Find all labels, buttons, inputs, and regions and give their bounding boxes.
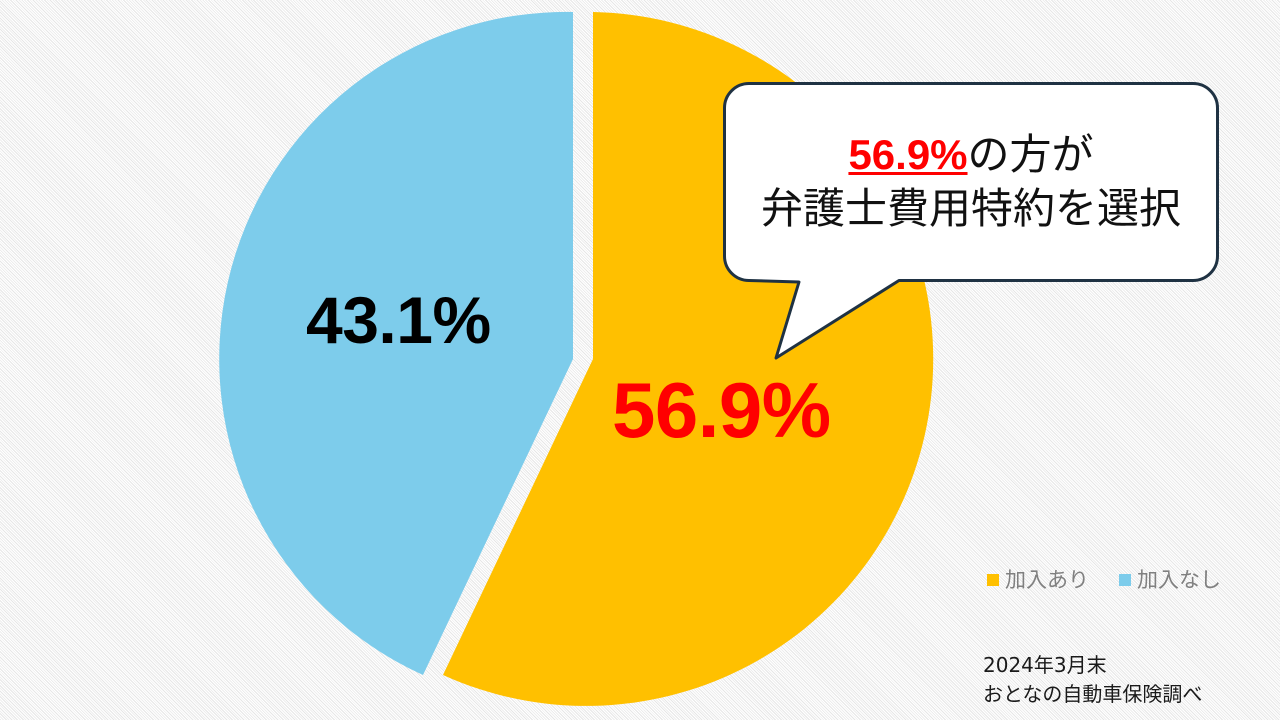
source-note: 2024年3月末 おとなの自動車保険調べ [983, 651, 1202, 709]
callout-line-2: 弁護士費用特約を選択 [761, 182, 1181, 236]
chart-legend: 加入あり 加入なし [944, 534, 1264, 626]
pie-label-kanyu-nashi: 43.1% [306, 287, 491, 353]
callout-bubble: 56.9%の方が 弁護士費用特約を選択 [723, 82, 1219, 282]
legend-swatch-yellow-icon [987, 574, 999, 586]
legend-label-kanyu-nashi: 加入なし [1137, 570, 1221, 591]
legend-label-kanyu-ari: 加入あり [1005, 570, 1089, 591]
legend-swatch-blue-icon [1119, 574, 1131, 586]
chart-slide: 43.1% 56.9% 56.9%の方が 弁護士費用特約を選択 加入あり 加入な… [0, 0, 1280, 720]
legend-item-kanyu-ari[interactable]: 加入あり [987, 570, 1089, 591]
source-note-line-1: 2024年3月末 [983, 651, 1202, 680]
callout-text: 56.9%の方が 弁護士費用特約を選択 [723, 82, 1219, 282]
source-note-line-2: おとなの自動車保険調べ [983, 680, 1202, 709]
callout-highlight-value: 56.9% [848, 131, 967, 178]
callout-line-1: 56.9%の方が [848, 128, 1093, 182]
callout-line-1-rest: の方が [968, 130, 1094, 179]
legend-item-kanyu-nashi[interactable]: 加入なし [1119, 570, 1221, 591]
